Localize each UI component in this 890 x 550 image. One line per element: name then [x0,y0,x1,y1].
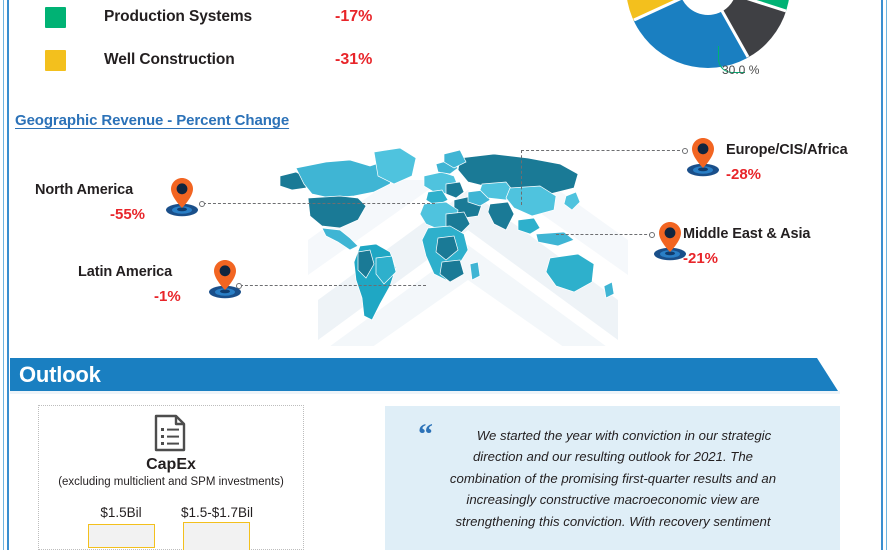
geographic-revenue-heading: Geographic Revenue - Percent Change [15,112,289,129]
pin-marker-icon [171,178,193,208]
donut-slice-label: 30.0 % [722,63,759,77]
leader-line-latin-america [240,285,426,286]
frame-rail-left [7,0,9,550]
capex-subtitle: (excluding multiclient and SPM investmen… [38,476,304,488]
outlook-section-title: Outlook [19,362,101,388]
world-map-icon [278,140,618,340]
geo-value-north-america: -55% [110,206,145,223]
quote-line: strengthening this conviction. With reco… [455,514,770,529]
capex-bar-item: $1.5-$1.7Bil [181,505,251,550]
leader-line-middle-east [556,234,652,235]
capex-bar-label: $1.5-$1.7Bil [181,505,251,520]
map-pin-europe-cis-africa[interactable] [686,138,720,178]
capex-title: CapEx [38,456,304,474]
map-pin-latin-america[interactable] [208,260,242,300]
capex-bar-item: $1.5Bil [86,505,156,548]
legend-value: -31% [335,51,372,69]
geo-label-north-america: North America [35,182,133,198]
map-pin-north-america[interactable] [165,178,199,218]
capex-bar-box [183,522,250,550]
geo-value-europe-cis-africa: -28% [726,166,761,183]
legend-item-production-systems: Production Systems -17% [45,6,425,28]
quote-line: direction and our resulting outlook for … [473,449,753,464]
frame-rail-outer-right [886,0,887,550]
pin-marker-icon [659,222,681,252]
infographic-page: Production Systems -17% Well Constructio… [0,0,890,550]
frame-rail-right [881,0,883,550]
geo-label-middle-east-asia: Middle East & Asia [683,226,810,242]
legend-swatch-yellow-icon [45,50,66,71]
quote-line: We started the year with conviction in o… [477,428,771,443]
leader-line-north-america [203,203,435,204]
outlook-section-banner [10,358,840,391]
leader-line-europe-vertical [521,150,522,205]
geo-value-latin-america: -1% [154,288,181,305]
quote-line: increasingly constructive macroeconomic … [466,492,759,507]
pin-marker-icon [692,138,714,168]
legend-label: Well Construction [104,51,235,69]
leader-line-europe [521,150,685,151]
pin-marker-icon [214,260,236,290]
outlook-band-shadow [10,391,840,394]
legend-value: -17% [335,8,372,26]
legend-swatch-green-icon [45,7,66,28]
geo-value-middle-east-asia: -21% [683,250,718,267]
capex-bar-label: $1.5Bil [86,505,156,520]
revenue-donut-chart [626,0,790,68]
quote-line: combination of the promising first-quart… [450,471,776,486]
capex-bar-box [88,524,155,548]
outlook-quote-text: We started the year with conviction in o… [406,425,820,532]
geo-label-europe-cis-africa: Europe/CIS/Africa [726,142,848,158]
frame-rail-outer-left [3,0,4,550]
leader-dot-north-america [199,201,205,207]
legend-label: Production Systems [104,8,252,26]
geo-label-latin-america: Latin America [78,264,172,280]
capex-bar-chart: $1.5Bil $1.5-$1.7Bil [38,505,304,550]
document-list-icon [152,414,188,452]
world-map-panel: North America -55% Latin America -1% Eur… [10,132,881,346]
map-pin-middle-east-asia[interactable] [653,222,687,262]
legend-item-well-construction: Well Construction -31% [45,49,425,71]
